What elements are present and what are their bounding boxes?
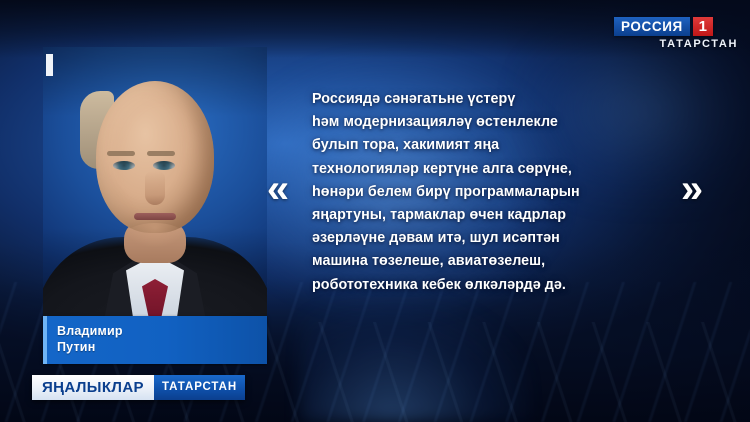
- quote-line: Россиядә сәнәгатьне үстерү: [312, 88, 664, 111]
- speaker-last-name: Путин: [57, 339, 259, 355]
- quote-line: яңартуны, тармаклар өчен кадрлар: [312, 204, 664, 227]
- portrait-eyebrow-left: [107, 151, 135, 156]
- broadcast-screen: Владимир Путин « » Россиядә сәнәгатьне ү…: [0, 0, 750, 422]
- speaker-first-name: Владимир: [57, 323, 259, 339]
- channel-logo-row: РОССИЯ 1: [614, 17, 713, 36]
- quote-line: машина төзелеше, авиатөзелеш,: [312, 250, 664, 273]
- portrait-hair-top: [92, 77, 218, 151]
- channel-region: ТАТАРСТАН: [660, 38, 738, 50]
- portrait-chin: [126, 223, 184, 247]
- quote-line: һәм модернизацияләү өстенлекле: [312, 111, 664, 134]
- channel-name: РОССИЯ: [614, 17, 690, 36]
- quote-line: булып тора, хакимият яңа: [312, 134, 664, 157]
- news-banner-title: ЯҢАЛЫКЛАР: [32, 375, 154, 400]
- quote-line: робототехника кебек өлкәләрдә дә.: [312, 274, 664, 297]
- quote-line: технологияләр кертүне алга сөрүне,: [312, 158, 664, 181]
- quote-line: һөнәри белем бирү программаларын: [312, 181, 664, 204]
- portrait-eye-left: [113, 161, 135, 170]
- portrait-nose: [145, 171, 165, 205]
- quote-block: « » Россиядә сәнәгатьне үстерү һәм модер…: [262, 88, 708, 300]
- speaker-name: Владимир Путин: [57, 323, 259, 355]
- quote-text: Россиядә сәнәгатьне үстерү һәм модерниза…: [312, 88, 664, 297]
- speaker-caption-bar: Владимир Путин: [43, 316, 267, 364]
- channel-logo: РОССИЯ 1 ТАТАРСТАН: [614, 17, 742, 59]
- news-banner: ЯҢАЛЫКЛАР ТАТАРСТАН: [32, 375, 245, 400]
- quote-close-mark-icon: »: [676, 170, 708, 210]
- quote-line: әзерләүне дәвам итә, шул исәптән: [312, 227, 664, 250]
- caption-accent-stripe: [43, 316, 47, 364]
- quote-open-mark-icon: «: [262, 170, 294, 210]
- portrait-mouth: [134, 213, 176, 220]
- speaker-portrait: [43, 47, 267, 325]
- channel-number: 1: [693, 17, 713, 36]
- portrait-eyebrow-right: [147, 151, 175, 156]
- tally-mark-icon: [46, 54, 53, 76]
- portrait-eye-right: [153, 161, 175, 170]
- news-banner-region: ТАТАРСТАН: [154, 375, 245, 400]
